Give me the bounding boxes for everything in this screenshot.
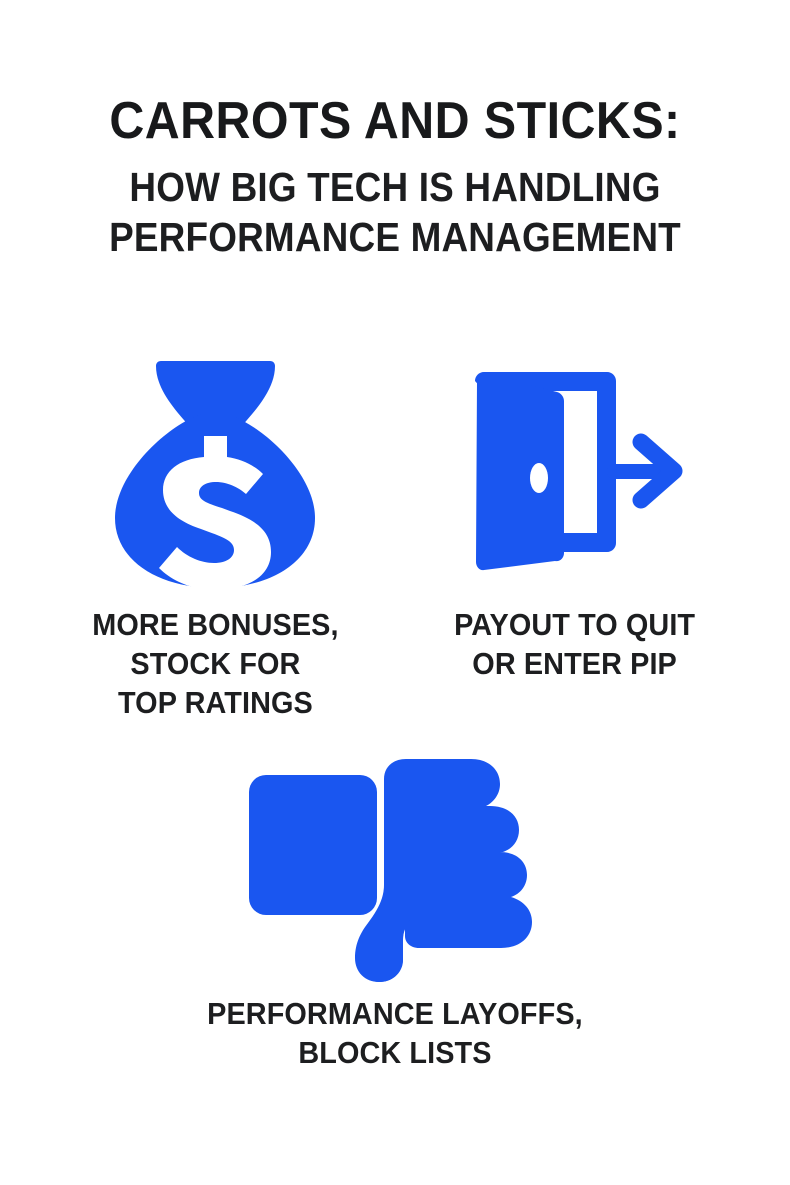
caption-line-2: OR ENTER PIP — [454, 644, 695, 683]
caption-line-1: PAYOUT TO QUIT — [454, 605, 695, 644]
money-bag-icon-wrap — [108, 352, 323, 597]
caption-more-bonuses: MORE BONUSES, STOCK FOR TOP RATINGS — [92, 605, 338, 722]
caption-payout-to-quit: PAYOUT TO QUIT OR ENTER PIP — [454, 605, 695, 683]
item-payout-to-quit: PAYOUT TO QUIT OR ENTER PIP — [395, 352, 755, 683]
infographic-poster: CARROTS AND STICKS: HOW BIG TECH IS HAND… — [0, 0, 790, 1185]
item-more-bonuses: MORE BONUSES, STOCK FOR TOP RATINGS — [35, 352, 395, 722]
exit-door-icon — [455, 367, 695, 582]
page-subtitle: HOW BIG TECH IS HANDLING PERFORMANCE MAN… — [40, 162, 751, 262]
header: CARROTS AND STICKS: HOW BIG TECH IS HAND… — [0, 92, 790, 262]
thumbs-down-icon-wrap — [245, 748, 545, 988]
caption-performance-layoffs: PERFORMANCE LAYOFFS, BLOCK LISTS — [207, 994, 583, 1072]
exit-door-icon-wrap — [455, 352, 695, 597]
caption-line-1: PERFORMANCE LAYOFFS, — [207, 994, 583, 1033]
item-performance-layoffs: PERFORMANCE LAYOFFS, BLOCK LISTS — [75, 748, 715, 1072]
caption-line-3: TOP RATINGS — [92, 683, 338, 722]
subtitle-line-1: HOW BIG TECH IS HANDLING — [40, 162, 751, 212]
caption-line-2: BLOCK LISTS — [207, 1033, 583, 1072]
page-title: CARROTS AND STICKS: — [28, 92, 763, 150]
caption-line-2: STOCK FOR — [92, 644, 338, 683]
icon-row-bottom: PERFORMANCE LAYOFFS, BLOCK LISTS — [0, 748, 790, 1072]
money-bag-icon — [108, 360, 323, 590]
subtitle-line-2: PERFORMANCE MANAGEMENT — [40, 212, 751, 262]
icon-row-top: MORE BONUSES, STOCK FOR TOP RATINGS — [0, 352, 790, 722]
caption-line-1: MORE BONUSES, — [92, 605, 338, 644]
thumbs-down-icon — [245, 753, 545, 983]
